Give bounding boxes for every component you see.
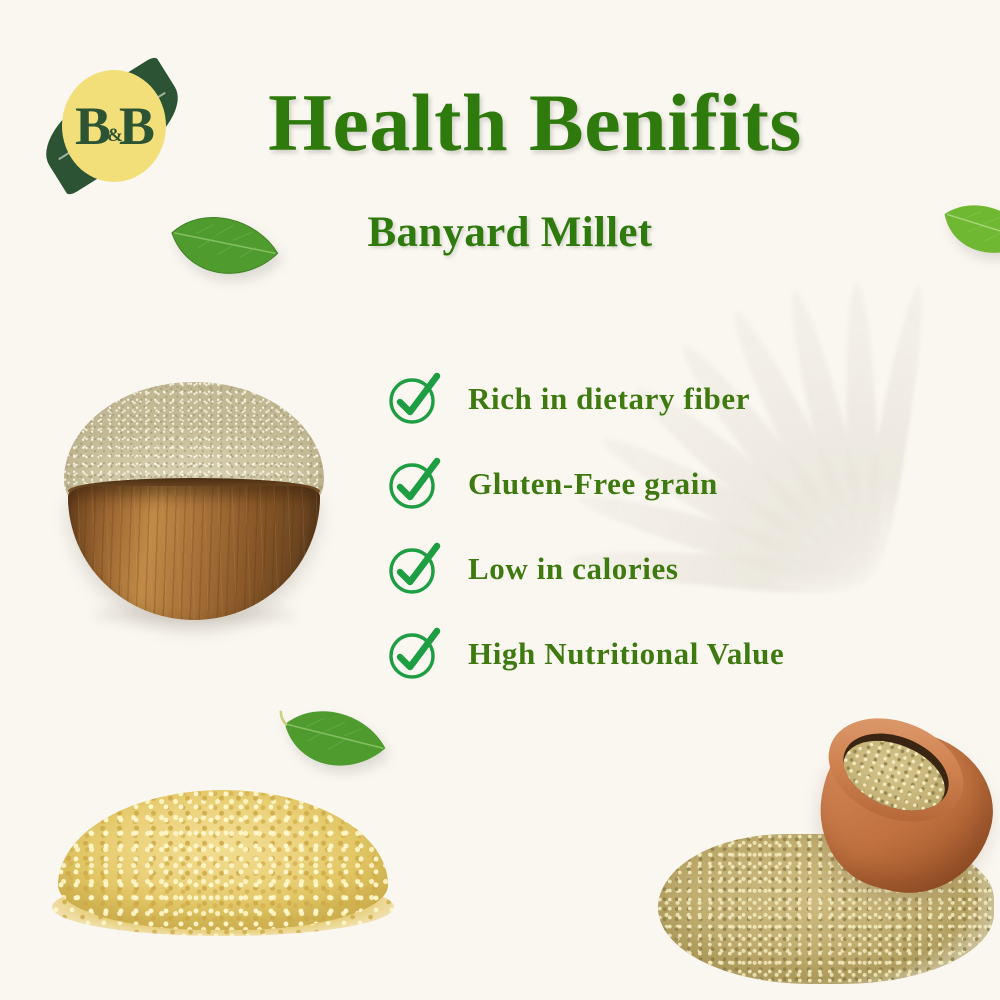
poster-canvas: B&B Health Benifits Banyard Millet: [0, 0, 1000, 1000]
wooden-bowl-body: [68, 486, 320, 620]
check-circle-icon: [386, 628, 438, 680]
millet-in-wooden-bowl: [58, 382, 330, 602]
check-circle-icon: [386, 458, 438, 510]
clay-pot-with-millet: [658, 706, 1000, 1000]
benefit-label: Rich in dietary fiber: [468, 381, 750, 417]
benefit-item: Rich in dietary fiber: [386, 356, 926, 441]
benefits-list: Rich in dietary fiber Gluten-Free grain …: [386, 356, 926, 696]
benefit-item: Low in calories: [386, 526, 926, 611]
page-subtitle: Banyard Millet: [0, 208, 1000, 257]
benefit-label: High Nutritional Value: [468, 636, 784, 672]
check-circle-icon: [386, 543, 438, 595]
page-title: Health Benifits: [0, 76, 1000, 170]
benefit-item: High Nutritional Value: [386, 611, 926, 696]
millet-pile-mound: [58, 790, 388, 930]
yellow-millet-pile: [58, 782, 388, 942]
benefit-label: Gluten-Free grain: [468, 466, 718, 502]
benefit-label: Low in calories: [468, 551, 679, 587]
check-circle-icon: [386, 373, 438, 425]
benefit-item: Gluten-Free grain: [386, 441, 926, 526]
